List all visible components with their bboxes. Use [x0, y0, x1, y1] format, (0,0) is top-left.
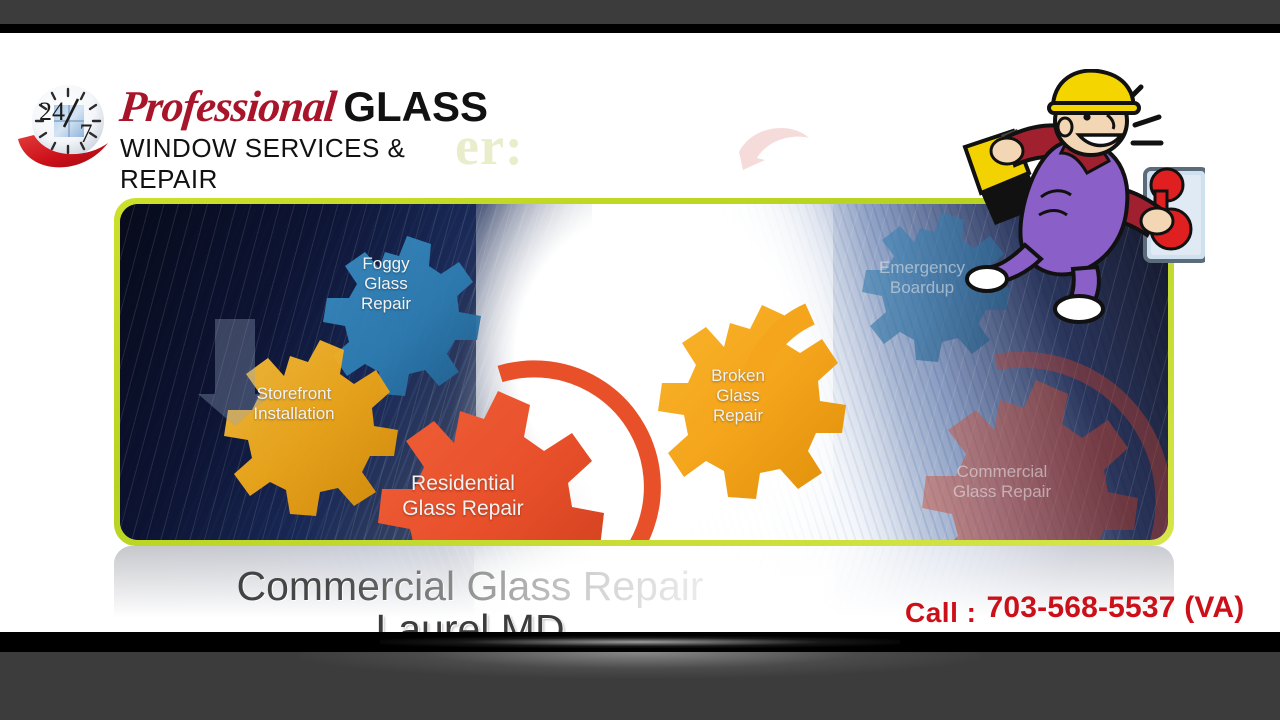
slide-stage: er: — [0, 33, 1280, 632]
call-label: Call : — [905, 589, 976, 629]
letterbox-bottom-glow — [300, 652, 980, 678]
mascot-right-hand — [1141, 208, 1173, 234]
letterbox-bar-top — [0, 0, 1280, 24]
company-logo[interactable]: 24 7 ProfessionalGLASS WINDOW SERVICES &… — [8, 71, 508, 191]
gear-label-commercial-glass-repair: Commercial Glass Repair — [932, 462, 1072, 502]
gear-label-broken-glass-repair: Broken Glass Repair — [690, 366, 786, 426]
mascot-left-shoe — [967, 267, 1007, 291]
logo-tagline: WINDOW SERVICES & REPAIR — [120, 133, 508, 195]
headline-block: Commercial Glass Repair Laurel MD — [150, 565, 790, 632]
logo-professional-text: Professional — [118, 85, 338, 129]
clock-24-7-icon: 24 7 — [16, 77, 116, 177]
mascot-right-shoe — [1055, 296, 1103, 322]
ghost-swoosh-icon — [735, 118, 815, 178]
phone-numbers[interactable]: 703-568-5537 (VA) 202-888-4047 (DC) — [986, 589, 1248, 632]
worker-mascot-illustration — [955, 69, 1205, 329]
logo-wordmark: ProfessionalGLASS WINDOW SERVICES & REPA… — [120, 85, 508, 195]
gear-commercial-glass-repair — [922, 360, 1164, 540]
headline-line-1: Commercial Glass Repair — [150, 565, 790, 608]
gear-label-foggy-glass-repair: Foggy Glass Repair — [338, 254, 434, 314]
phone-number-va[interactable]: 703-568-5537 (VA) — [986, 589, 1248, 627]
headline-line-2: Laurel MD — [150, 608, 790, 632]
gear-label-storefront-installation: Storefront Installation — [230, 384, 358, 424]
letterbox-line-top — [0, 24, 1280, 33]
mascot-left-hand — [991, 138, 1023, 164]
logo-glass-text: GLASS — [343, 83, 488, 130]
contact-phone-block[interactable]: Call : 703-568-5537 (VA) 202-888-4047 (D… — [905, 589, 1248, 632]
clock-number-7: 7 — [80, 119, 93, 148]
clock-number-24: 24 — [39, 97, 65, 126]
letterbox-line-glow — [380, 636, 900, 648]
video-player-frame: er: — [0, 0, 1280, 720]
mascot-ear — [1058, 118, 1072, 136]
gear-label-residential-glass-repair: Residential Glass Repair — [370, 472, 556, 522]
mascot-eye — [1083, 113, 1090, 120]
